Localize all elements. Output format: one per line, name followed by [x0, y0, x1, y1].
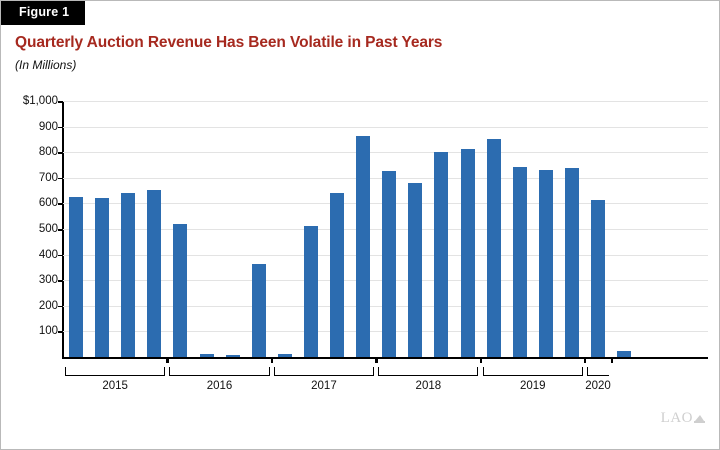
x-axis-tick: [375, 358, 377, 363]
bar: [278, 354, 292, 357]
y-tick-label: 400: [39, 249, 58, 261]
bar: [617, 351, 631, 357]
y-tick-label: 200: [39, 300, 58, 312]
year-label: 2019: [520, 380, 546, 392]
y-axis-labels: 100200300400500600700800900$1,000: [1, 1, 58, 450]
bar: [330, 193, 344, 357]
book-icon: [694, 414, 705, 423]
year-bracket: [587, 367, 609, 376]
year-label: 2017: [311, 380, 337, 392]
bar: [95, 198, 109, 357]
y-tick-label: 500: [39, 223, 58, 235]
bar: [408, 183, 422, 357]
bar: [252, 264, 266, 357]
year-label: 2016: [207, 380, 233, 392]
y-tick-label: 300: [39, 274, 58, 286]
lao-logo: LAO: [661, 410, 705, 427]
bar: [226, 355, 240, 357]
y-tick-label: 800: [39, 146, 58, 158]
bar: [382, 171, 396, 357]
year-bracket: [274, 367, 374, 376]
year-label: 2020: [585, 380, 611, 392]
x-axis-tick: [271, 358, 273, 363]
bar: [591, 200, 605, 357]
y-tick-label: 600: [39, 197, 58, 209]
bar: [69, 197, 83, 357]
gridline: [63, 101, 708, 102]
bar: [356, 136, 370, 357]
x-axis-tick: [611, 358, 613, 363]
year-label: 2018: [416, 380, 442, 392]
lao-logo-text: LAO: [661, 410, 693, 426]
bar: [434, 152, 448, 357]
y-tick-label: 100: [39, 325, 58, 337]
year-bracket: [65, 367, 165, 376]
year-bracket: [169, 367, 269, 376]
bar: [200, 354, 214, 357]
figure-container: Figure 1 Quarterly Auction Revenue Has B…: [0, 0, 720, 450]
gridline: [63, 152, 708, 153]
year-bracket: [378, 367, 478, 376]
bar: [539, 170, 553, 357]
year-label: 2015: [102, 380, 128, 392]
bar: [487, 139, 501, 357]
bar: [461, 149, 475, 357]
bar: [147, 190, 161, 357]
x-axis-tick: [166, 358, 168, 363]
y-tick-label: $1,000: [23, 95, 58, 107]
y-tick-label: 900: [39, 121, 58, 133]
x-axis-tick: [584, 358, 586, 363]
bar: [565, 168, 579, 357]
bar: [304, 226, 318, 357]
chart-title: Quarterly Auction Revenue Has Been Volat…: [15, 34, 442, 52]
y-tick-label: 700: [39, 172, 58, 184]
x-axis-tick: [480, 358, 482, 363]
bar: [121, 193, 135, 357]
bar: [173, 224, 187, 357]
bar: [513, 167, 527, 357]
gridline: [63, 127, 708, 128]
plot-area: [63, 101, 708, 357]
year-bracket: [483, 367, 583, 376]
